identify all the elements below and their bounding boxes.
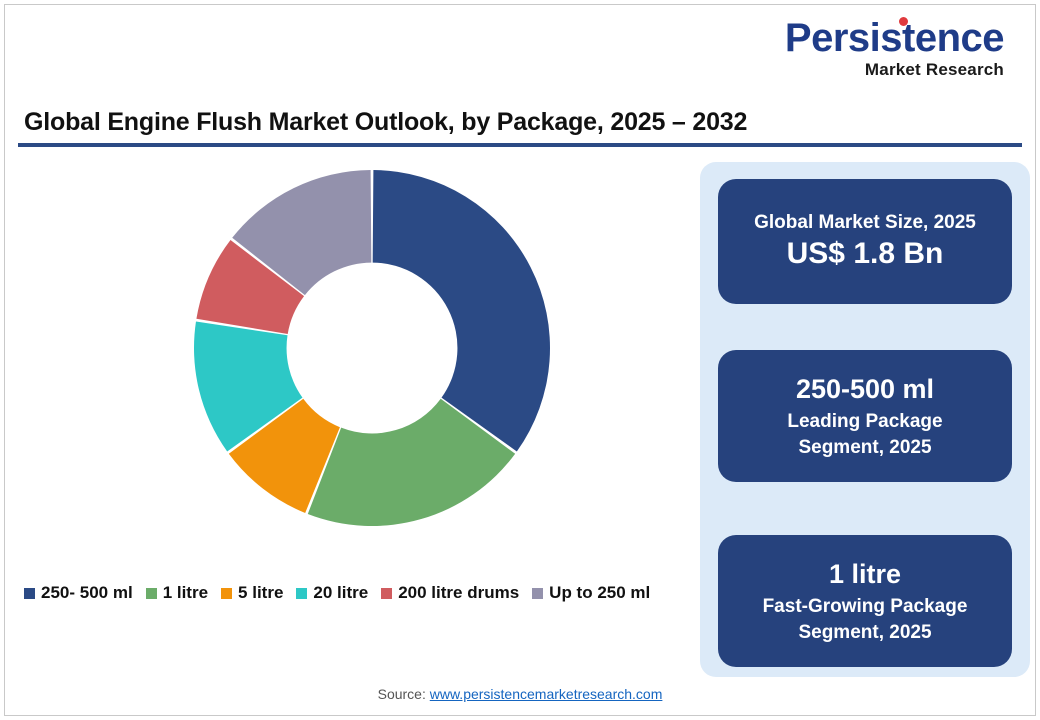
legend-item-label: 200 litre drums	[398, 583, 519, 603]
legend-item[interactable]: 200 litre drums	[381, 583, 519, 603]
donut-chart	[14, 155, 704, 615]
leading-segment-line1: Leading Package	[787, 409, 942, 434]
legend-item-label: 20 litre	[313, 583, 368, 603]
logo-brand-label: Persistence	[785, 16, 1004, 60]
fast-growing-line2: Segment, 2025	[798, 620, 931, 645]
legend-swatch-icon	[221, 588, 232, 599]
logo-brand-text: Persistence	[785, 18, 1004, 58]
legend-item-label: 5 litre	[238, 583, 283, 603]
fast-growing-line1: Fast-Growing Package	[763, 594, 968, 619]
legend-swatch-icon	[146, 588, 157, 599]
legend-item[interactable]: Up to 250 ml	[532, 583, 650, 603]
legend-item-label: 250- 500 ml	[41, 583, 133, 603]
legend-swatch-icon	[532, 588, 543, 599]
source-line: Source: www.persistencemarketresearch.co…	[0, 686, 1040, 702]
market-size-caption: Global Market Size, 2025	[754, 211, 976, 235]
market-size-value: US$ 1.8 Bn	[787, 235, 944, 273]
legend-item-label: 1 litre	[163, 583, 208, 603]
legend-item[interactable]: 1 litre	[146, 583, 208, 603]
legend-swatch-icon	[296, 588, 307, 599]
source-url-link[interactable]: www.persistencemarketresearch.com	[430, 686, 663, 702]
stat-card-market-size: Global Market Size, 2025 US$ 1.8 Bn	[718, 179, 1012, 304]
title-divider	[18, 143, 1022, 147]
legend-swatch-icon	[381, 588, 392, 599]
logo-tagline: Market Research	[785, 61, 1004, 78]
stat-card-fast-growing-segment: 1 litre Fast-Growing Package Segment, 20…	[718, 535, 1012, 667]
donut-slice-group	[194, 170, 550, 526]
fast-growing-headline: 1 litre	[829, 557, 901, 592]
page-title: Global Engine Flush Market Outlook, by P…	[24, 108, 747, 137]
legend-item-label: Up to 250 ml	[549, 583, 650, 603]
stats-panel: Global Market Size, 2025 US$ 1.8 Bn 250-…	[700, 162, 1030, 677]
donut-chart-svg	[14, 155, 704, 615]
logo-dot-icon	[899, 17, 908, 26]
leading-segment-headline: 250-500 ml	[796, 372, 934, 407]
legend-swatch-icon	[24, 588, 35, 599]
source-prefix: Source:	[378, 686, 430, 702]
company-logo: Persistence Market Research	[785, 18, 1004, 78]
leading-segment-line2: Segment, 2025	[798, 435, 931, 460]
chart-legend: 250- 500 ml 1 litre 5 litre 20 litre 200…	[24, 583, 650, 603]
stat-card-leading-segment: 250-500 ml Leading Package Segment, 2025	[718, 350, 1012, 482]
legend-item[interactable]: 20 litre	[296, 583, 368, 603]
legend-item[interactable]: 250- 500 ml	[24, 583, 133, 603]
legend-item[interactable]: 5 litre	[221, 583, 283, 603]
donut-slice[interactable]	[373, 170, 550, 451]
